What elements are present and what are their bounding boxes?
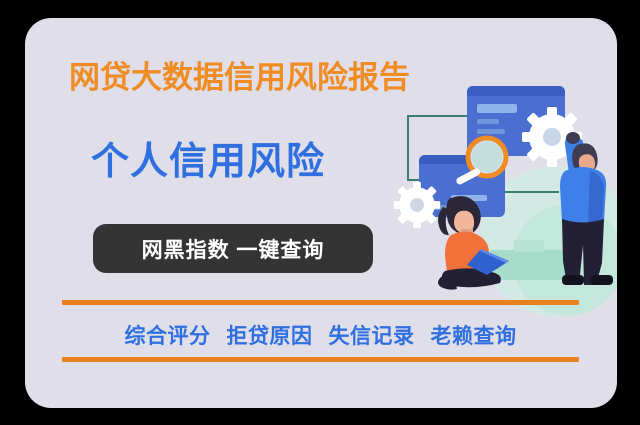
query-cta-label: 网黑指数 一键查询 (142, 234, 325, 264)
standing-person (535, 115, 617, 290)
document-card-line (477, 119, 499, 124)
page-title: 网贷大数据信用风险报告 (69, 62, 410, 93)
magnifier-icon (453, 133, 515, 195)
poster-card: 网贷大数据信用风险报告 个人信用风险 网黑指数 一键查询 综合评分 拒贷原因 失… (25, 18, 617, 408)
feature-list: 综合评分 拒贷原因 失信记录 老赖查询 (62, 312, 579, 357)
headline: 个人信用风险 (91, 143, 325, 181)
query-cta-button[interactable]: 网黑指数 一键查询 (93, 224, 373, 273)
divider-bottom (62, 357, 579, 362)
feature-item-score[interactable]: 综合评分 (125, 320, 211, 350)
divider-top (62, 300, 579, 305)
poster-root: 网贷大数据信用风险报告 个人信用风险 网黑指数 一键查询 综合评分 拒贷原因 失… (0, 0, 640, 425)
connector-line-vertical (407, 115, 409, 181)
feature-item-defaulter-query[interactable]: 老赖查询 (431, 320, 517, 350)
seated-person (423, 193, 523, 293)
document-card-line (477, 104, 517, 113)
connector-line-top (407, 115, 469, 117)
feature-item-dishonesty-record[interactable]: 失信记录 (329, 320, 415, 350)
feature-item-rejection-reason[interactable]: 拒贷原因 (227, 320, 313, 350)
document-card-upper-header (467, 86, 565, 96)
credit-risk-analysis-illustration (395, 73, 617, 293)
